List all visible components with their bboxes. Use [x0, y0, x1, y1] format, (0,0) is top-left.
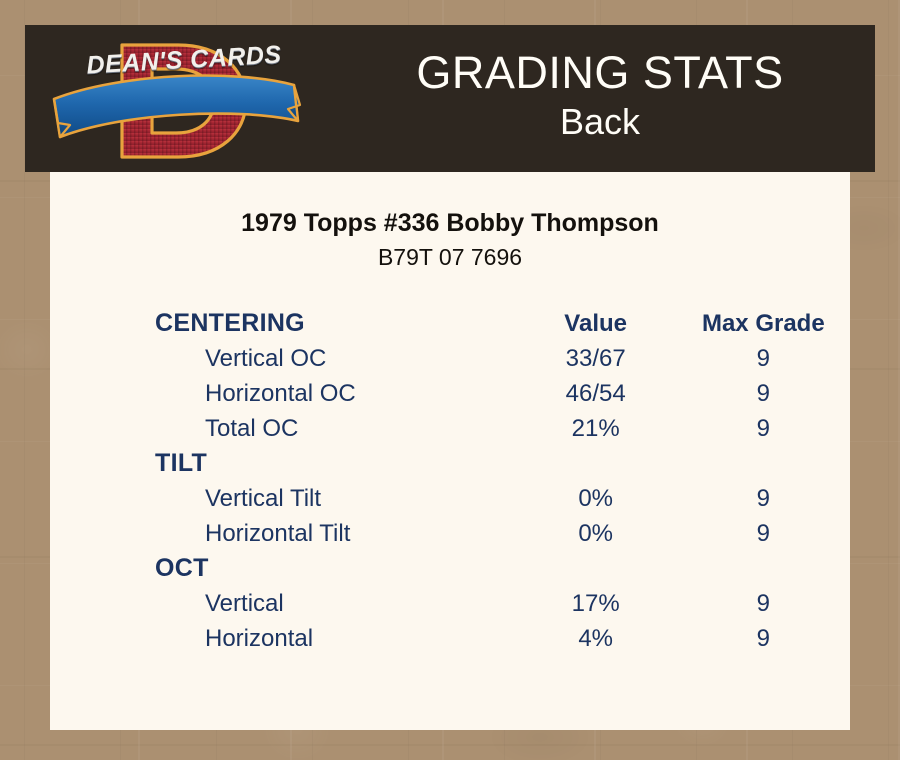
- table-row: Horizontal Tilt0%9: [155, 516, 845, 551]
- table-section-row: OCT: [155, 551, 845, 586]
- stat-value: [510, 551, 682, 586]
- table-row: Vertical17%9: [155, 586, 845, 621]
- stat-max-grade: Max Grade: [682, 306, 845, 341]
- table-section-row: CENTERINGValueMax Grade: [155, 306, 845, 341]
- card-title: 1979 Topps #336 Bobby Thompson: [50, 209, 850, 238]
- stat-value: 4%: [510, 621, 682, 656]
- stat-label: TILT: [155, 446, 510, 481]
- stat-value: Value: [510, 306, 682, 341]
- stat-label: Horizontal OC: [155, 376, 510, 411]
- stat-value: 0%: [510, 516, 682, 551]
- stat-label: CENTERING: [155, 306, 510, 341]
- table-row: Horizontal OC46/549: [155, 376, 845, 411]
- stat-value: [510, 446, 682, 481]
- card-serial-number: B79T 07 7696: [50, 244, 850, 271]
- table-row: Vertical Tilt0%9: [155, 481, 845, 516]
- header-bar: DEAN'S CARDS GRADING STATS Back: [25, 25, 875, 172]
- stat-max-grade: 9: [682, 621, 845, 656]
- stat-label: Vertical Tilt: [155, 481, 510, 516]
- stat-label: Horizontal Tilt: [155, 516, 510, 551]
- grading-stats-table: CENTERINGValueMax GradeVertical OC33/679…: [155, 306, 845, 656]
- stat-max-grade: [682, 446, 845, 481]
- stat-value: 0%: [510, 481, 682, 516]
- stat-value: 21%: [510, 411, 682, 446]
- stat-max-grade: 9: [682, 481, 845, 516]
- stat-label: OCT: [155, 551, 510, 586]
- table-section-row: TILT: [155, 446, 845, 481]
- table-row: Horizontal4%9: [155, 621, 845, 656]
- stat-max-grade: 9: [682, 341, 845, 376]
- stat-label: Horizontal: [155, 621, 510, 656]
- stat-max-grade: [682, 551, 845, 586]
- table-row: Vertical OC33/679: [155, 341, 845, 376]
- stat-max-grade: 9: [682, 516, 845, 551]
- logo-ribbon: [54, 76, 300, 137]
- deans-cards-logo: DEAN'S CARDS: [50, 29, 320, 169]
- page-title: GRADING STATS: [355, 47, 845, 99]
- stat-value: 17%: [510, 586, 682, 621]
- content-panel: 1979 Topps #336 Bobby Thompson B79T 07 7…: [50, 172, 850, 730]
- stat-label: Vertical: [155, 586, 510, 621]
- stat-max-grade: 9: [682, 411, 845, 446]
- stat-value: 33/67: [510, 341, 682, 376]
- stat-max-grade: 9: [682, 376, 845, 411]
- table-row: Total OC21%9: [155, 411, 845, 446]
- page-subtitle: Back: [355, 101, 845, 143]
- stat-value: 46/54: [510, 376, 682, 411]
- logo-artwork: [50, 29, 320, 169]
- stat-label: Total OC: [155, 411, 510, 446]
- stat-max-grade: 9: [682, 586, 845, 621]
- stat-label: Vertical OC: [155, 341, 510, 376]
